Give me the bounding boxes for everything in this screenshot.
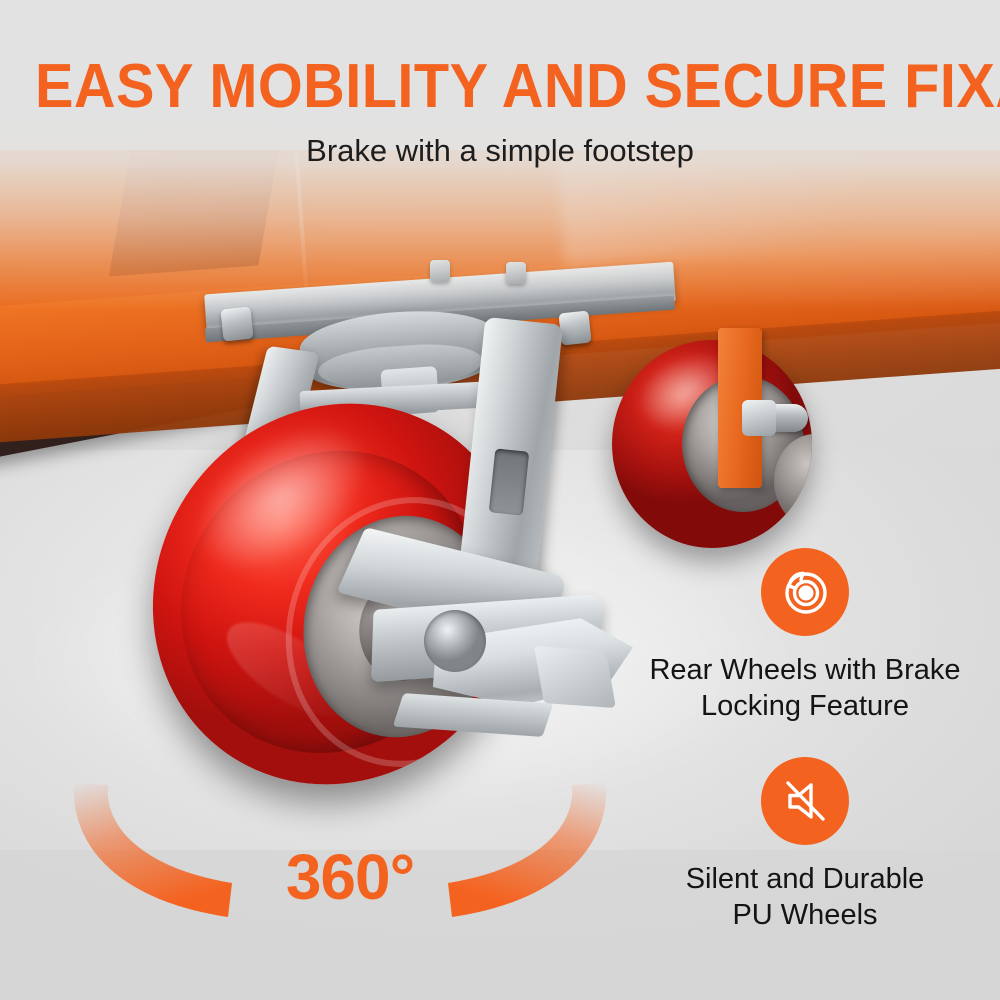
deck-bolt-small-1 <box>430 260 450 282</box>
deck-bolt-small-2 <box>506 262 526 284</box>
feature-label-line-1: Rear Wheels with Brake <box>649 654 960 686</box>
rear-axle-nut <box>742 400 776 436</box>
page-title: EASY MOBILITY AND SECURE FIXATION <box>35 56 965 118</box>
mute-speaker-glyph <box>778 774 832 828</box>
rear-wheel-hub-inner <box>774 434 812 528</box>
rear-caster-wheel <box>612 340 812 548</box>
brake-disc-glyph <box>777 564 833 620</box>
brake-pedal-edge <box>534 646 616 708</box>
brake-disc-icon <box>761 548 849 636</box>
feature-item-silent-pu: Silent and Durable PU Wheels <box>610 757 1000 933</box>
feature-label-line-1: Silent and Durable <box>686 863 925 895</box>
mute-speaker-icon <box>761 757 849 845</box>
product-feature-panel: EASY MOBILITY AND SECURE FIXATION Brake … <box>0 0 1000 1000</box>
swivel-degrees-label: 360° <box>235 845 465 909</box>
page-subtitle: Brake with a simple footstep <box>0 133 1000 169</box>
product-photo <box>0 150 1000 850</box>
feature-label-silent-pu: Silent and Durable PU Wheels <box>610 861 1000 933</box>
feature-label-line-2: Locking Feature <box>701 690 909 722</box>
mount-bolt-left <box>220 307 253 342</box>
caster-fork-slot <box>489 448 530 515</box>
mount-bolt-right <box>558 311 591 346</box>
feature-label-line-2: PU Wheels <box>732 899 877 931</box>
feature-item-brake-lock: Rear Wheels with Brake Locking Feature <box>610 548 1000 724</box>
feature-label-brake-lock: Rear Wheels with Brake Locking Feature <box>610 652 1000 724</box>
brake-cam-pivot <box>424 610 486 672</box>
